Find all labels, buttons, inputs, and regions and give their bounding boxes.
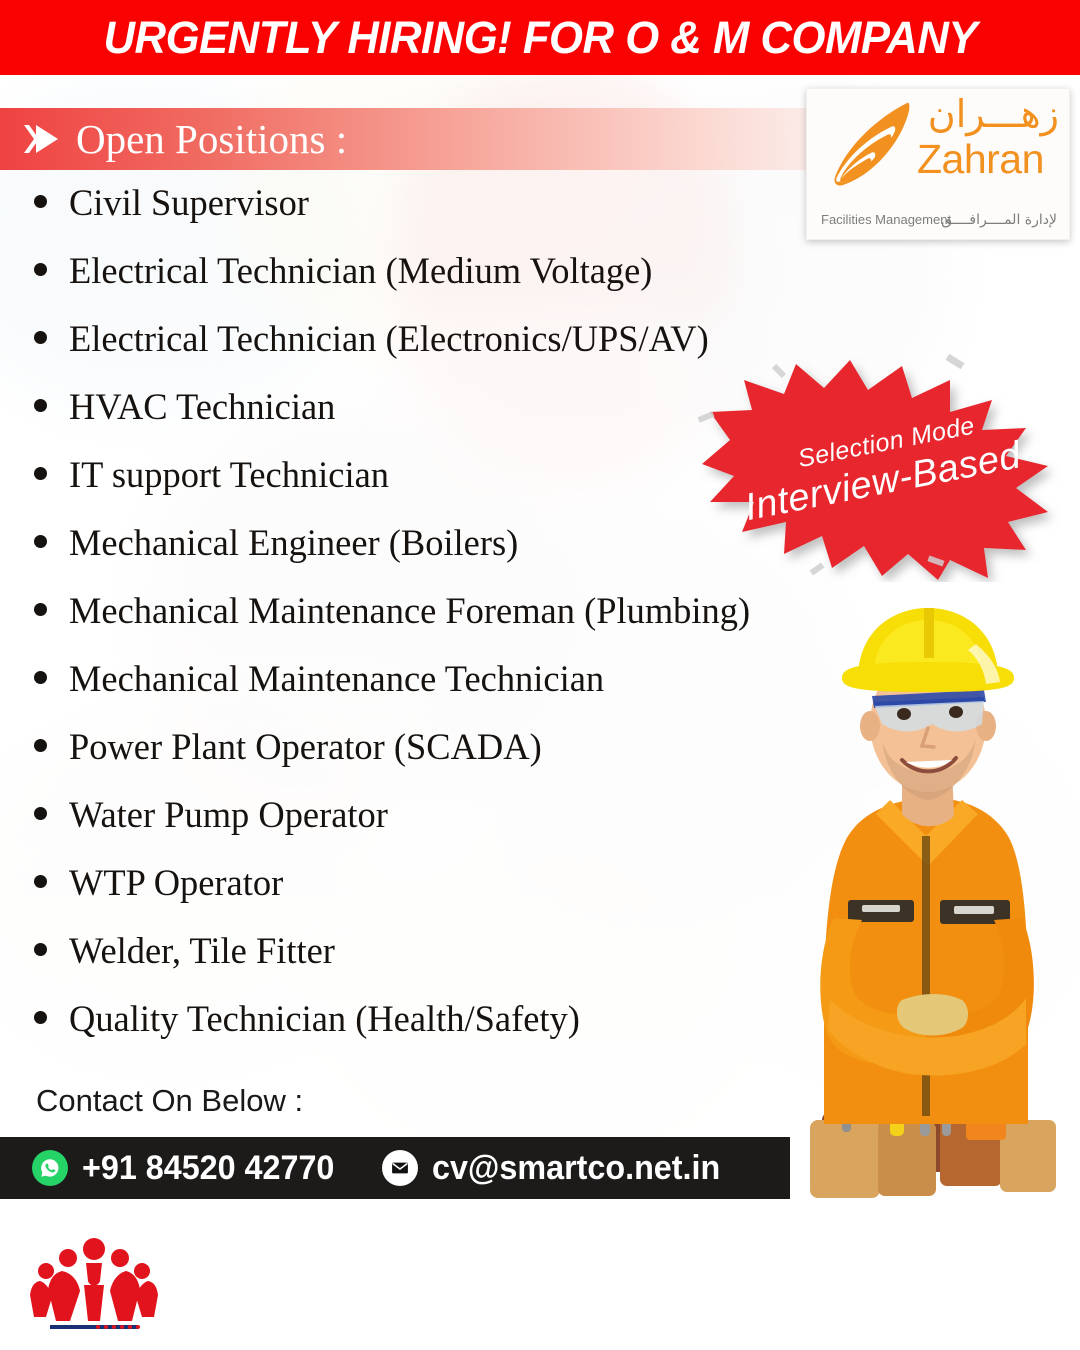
position-label: Mechanical Maintenance Foreman (Plumbing… xyxy=(69,590,750,633)
bullet-icon xyxy=(34,263,47,276)
position-label: WTP Operator xyxy=(69,862,283,905)
position-label: Water Pump Operator xyxy=(69,794,388,837)
list-item: Mechanical Maintenance Foreman (Plumbing… xyxy=(34,590,884,658)
position-label: Electrical Technician (Electronics/UPS/A… xyxy=(69,318,709,361)
position-label: Quality Technician (Health/Safety) xyxy=(69,998,580,1041)
footer-bar: SMARTCO Smart Training & Sourcing Co. Ap… xyxy=(0,1215,1080,1350)
zahran-arabic-name: زهـــران xyxy=(928,95,1059,133)
open-positions-banner: Open Positions : xyxy=(0,108,905,170)
bullet-icon xyxy=(34,331,47,344)
bullet-icon xyxy=(34,739,47,752)
position-label: HVAC Technician xyxy=(69,386,335,429)
bullet-icon xyxy=(34,399,47,412)
worker-photo xyxy=(770,600,1080,1200)
bullet-icon xyxy=(34,1011,47,1024)
zahran-english-name: Zahran xyxy=(917,139,1044,180)
list-item: Welder, Tile Fitter xyxy=(34,930,884,998)
list-item: Water Pump Operator xyxy=(34,794,884,862)
bullet-icon xyxy=(34,943,47,956)
envelope-icon[interactable] xyxy=(382,1150,418,1186)
double-chevron-right-icon xyxy=(22,122,64,156)
zahran-tagline-en: Facilities Management xyxy=(821,212,951,227)
open-positions-label: Open Positions : xyxy=(76,119,347,160)
email-address[interactable]: cv@smartco.net.in xyxy=(432,1149,720,1188)
bullet-icon xyxy=(34,671,47,684)
smartco-logo-icon xyxy=(24,1237,164,1337)
position-label: IT support Technician xyxy=(69,454,389,497)
bullet-icon xyxy=(34,467,47,480)
header-bar: URGENTLY HIRING! FOR O & M COMPANY xyxy=(0,0,1080,75)
position-label: Welder, Tile Fitter xyxy=(69,930,335,973)
starburst-shape xyxy=(700,352,1060,582)
position-label: Civil Supervisor xyxy=(69,182,309,225)
positions-list: Civil Supervisor Electrical Technician (… xyxy=(34,182,884,1066)
list-item: WTP Operator xyxy=(34,862,884,930)
list-item: Electrical Technician (Medium Voltage) xyxy=(34,250,884,318)
list-item: Civil Supervisor xyxy=(34,182,884,250)
contact-note-label: Contact On Below : xyxy=(36,1083,303,1119)
page-title: URGENTLY HIRING! FOR O & M COMPANY xyxy=(103,12,976,64)
bullet-icon xyxy=(34,603,47,616)
list-item: Quality Technician (Health/Safety) xyxy=(34,998,884,1066)
bullet-icon xyxy=(34,875,47,888)
recruitment-poster: URGENTLY HIRING! FOR O & M COMPANY Open … xyxy=(0,0,1080,1350)
client-logo-zahran: زهـــران Zahran Facilities Management لإ… xyxy=(806,88,1070,240)
zahran-swoosh-icon xyxy=(821,101,913,189)
list-item: Mechanical Maintenance Technician xyxy=(34,658,884,726)
phone-number[interactable]: +91 84520 42770 xyxy=(82,1149,334,1188)
position-label: Mechanical Engineer (Boilers) xyxy=(69,522,518,565)
contact-bar: +91 84520 42770 cv@smartco.net.in xyxy=(0,1137,790,1199)
zahran-tagline-ar: لإدارة المــــرافــــق xyxy=(941,212,1057,228)
position-label: Power Plant Operator (SCADA) xyxy=(69,726,542,769)
whatsapp-icon[interactable] xyxy=(32,1150,68,1186)
selection-mode-badge: Selection Mode Interview-Based xyxy=(700,352,1060,582)
list-item: Power Plant Operator (SCADA) xyxy=(34,726,884,794)
bullet-icon xyxy=(34,807,47,820)
bullet-icon xyxy=(34,195,47,208)
position-label: Mechanical Maintenance Technician xyxy=(69,658,604,701)
bullet-icon xyxy=(34,535,47,548)
position-label: Electrical Technician (Medium Voltage) xyxy=(69,250,652,293)
